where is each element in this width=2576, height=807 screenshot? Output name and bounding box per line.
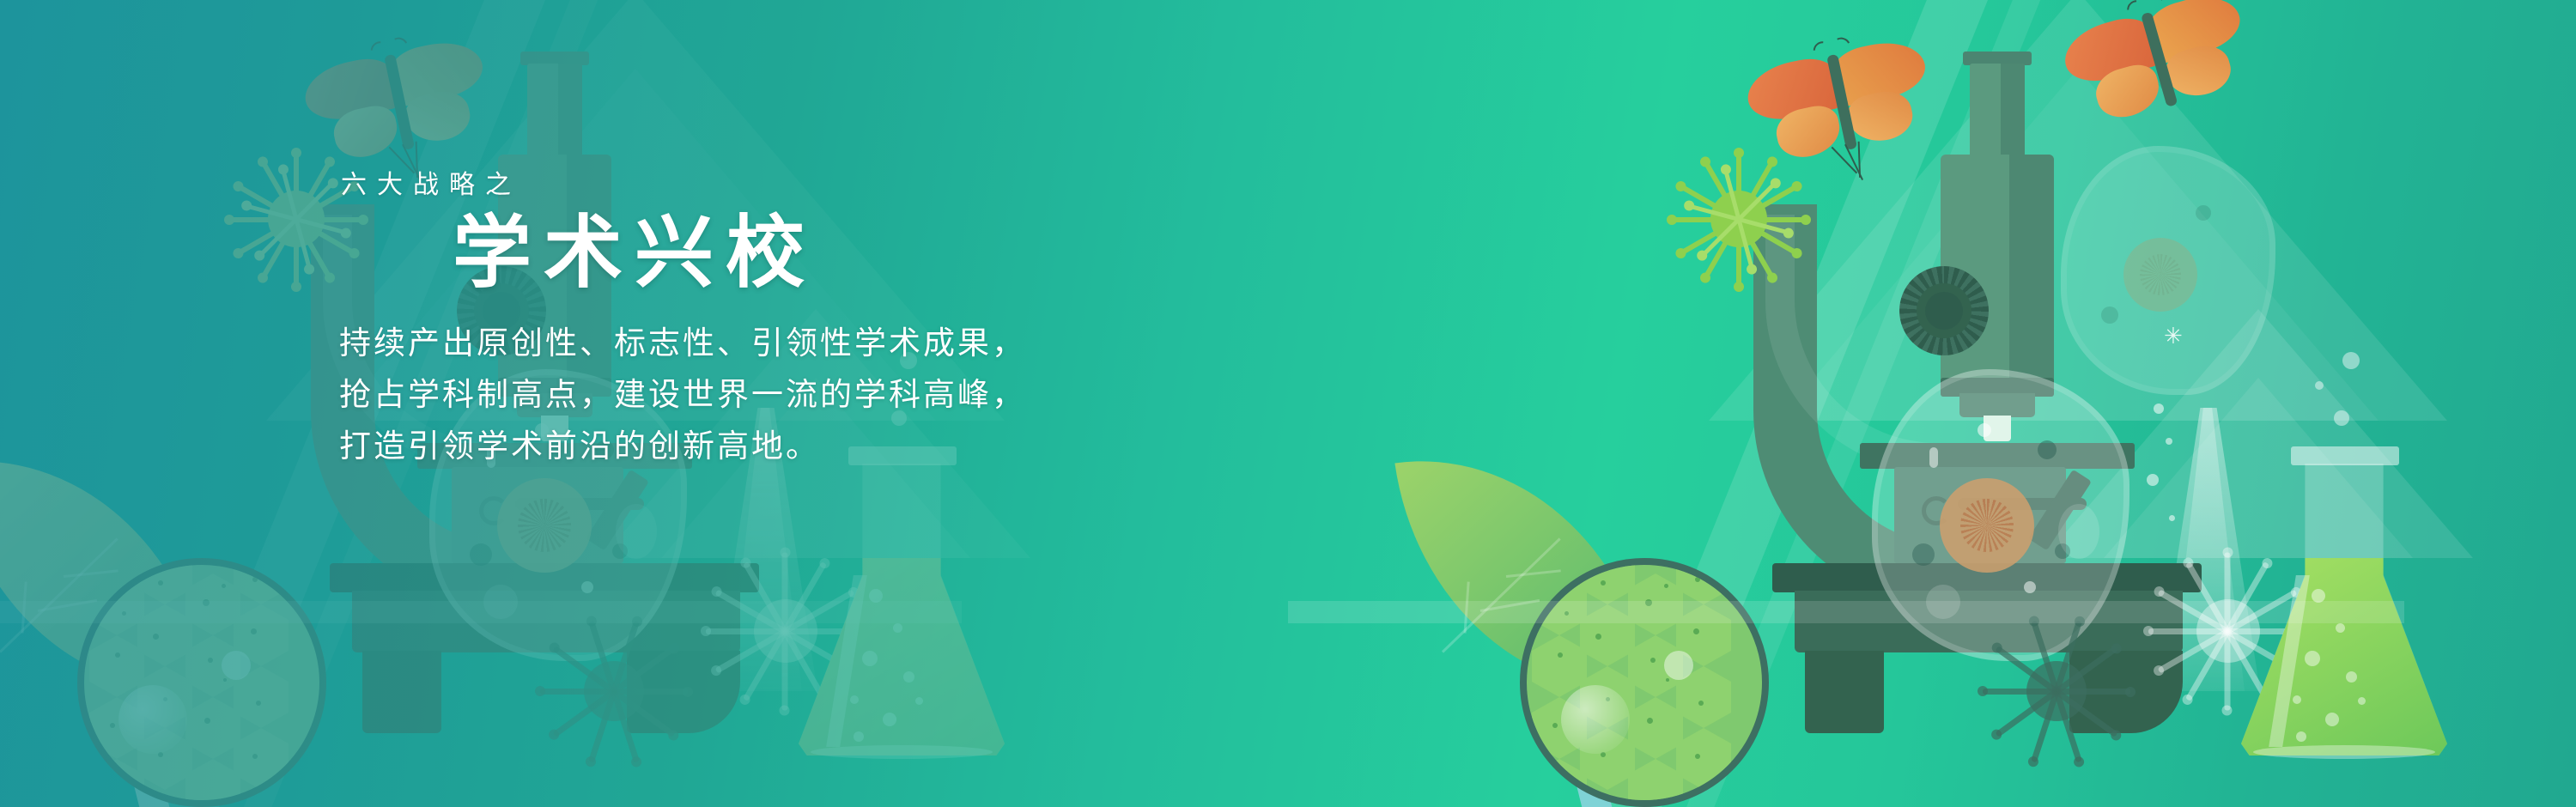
banner-eyebrow: 六大战略之 xyxy=(341,163,1413,201)
description-line-3: 打造引领学术前沿的创新高地。 xyxy=(339,422,1413,473)
banner-title: 学术兴校 xyxy=(453,211,1413,296)
background-illustration-right: ✳ xyxy=(1391,0,2576,807)
sparkle-icon: ✳ xyxy=(2164,325,2183,347)
speck-dot xyxy=(2154,403,2164,414)
magnifier-icon xyxy=(77,558,326,807)
banner-description: 持续产出原创性、标志性、引领性学术成果， 抢占学科制高点，建设世界一流的学科高峰… xyxy=(339,319,1413,473)
description-line-1: 持续产出原创性、标志性、引领性学术成果， xyxy=(339,319,1413,370)
speck-dot-4 xyxy=(2169,515,2175,521)
amoeba-cell-icon-right-2 xyxy=(2061,146,2275,395)
hero-banner: ✳ 六大战略之 学术兴校 持续产出原创性、标志性、引领性学术成果， 抢占学科制高… xyxy=(0,0,2576,807)
speck-dot-3 xyxy=(2147,474,2159,486)
shelf-line xyxy=(0,601,962,623)
shelf-line-right xyxy=(1288,601,2404,623)
banner-copy: 六大战略之 学术兴校 持续产出原创性、标志性、引领性学术成果， 抢占学科制高点，… xyxy=(339,163,1413,473)
magnifier-icon-right xyxy=(1520,558,1769,807)
description-line-2: 抢占学科制高点，建设世界一流的学科高峰， xyxy=(339,370,1413,422)
speck-dot-2 xyxy=(2166,438,2172,445)
